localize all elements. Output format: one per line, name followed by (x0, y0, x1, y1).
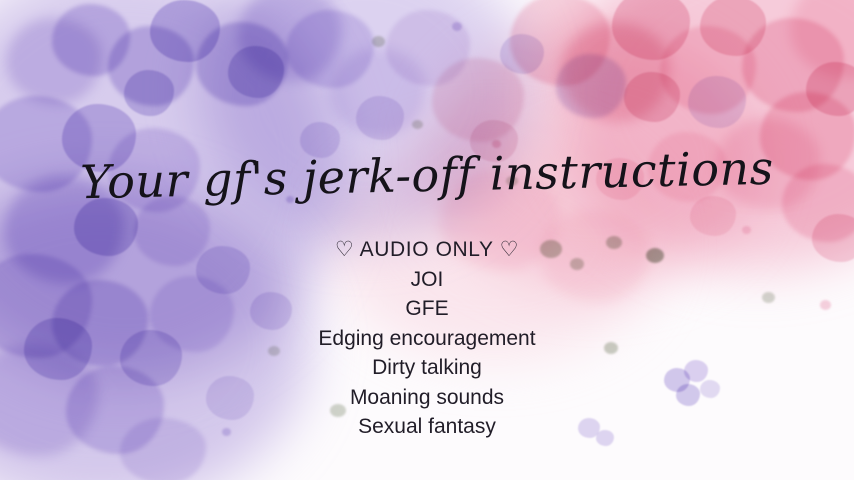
list-item: Moaning sounds (0, 383, 854, 413)
petal (624, 72, 680, 122)
petal (790, 0, 854, 78)
petal (660, 26, 756, 114)
petal (124, 70, 174, 116)
droplet (742, 226, 751, 234)
petal (228, 46, 284, 98)
pink-wash-right (560, 0, 854, 270)
petal (108, 26, 194, 106)
foliage-speck (372, 36, 385, 47)
feature-list: ♡ AUDIO ONLY ♡ JOI GFE Edging encouragem… (0, 235, 854, 442)
list-item: Sexual fantasy (0, 412, 854, 442)
list-item: JOI (0, 265, 854, 295)
petal (556, 54, 626, 118)
petal (688, 76, 746, 128)
petal (510, 0, 610, 86)
petal (690, 196, 736, 236)
petal (52, 4, 130, 76)
watercolor-floral-graphic: Your gf's jerk-off instructions ♡ AUDIO … (0, 0, 854, 480)
petal (560, 22, 670, 122)
list-item: GFE (0, 294, 854, 324)
droplet (452, 22, 462, 31)
list-item: Edging encouragement (0, 324, 854, 354)
petal (238, 0, 342, 82)
list-item: Dirty talking (0, 353, 854, 383)
petal (806, 62, 854, 116)
petal (330, 48, 426, 136)
page-title: Your gf's jerk-off instructions (0, 139, 854, 211)
petal (286, 10, 374, 88)
petal (150, 0, 220, 62)
list-item: ♡ AUDIO ONLY ♡ (0, 235, 854, 265)
petal (500, 34, 544, 74)
petal (356, 96, 404, 140)
petal (386, 10, 470, 86)
petal (432, 58, 524, 142)
petal (742, 18, 844, 112)
petal (612, 0, 690, 60)
petal (196, 22, 288, 106)
foliage-speck (412, 120, 423, 129)
petal (700, 0, 766, 56)
petal (6, 18, 102, 104)
